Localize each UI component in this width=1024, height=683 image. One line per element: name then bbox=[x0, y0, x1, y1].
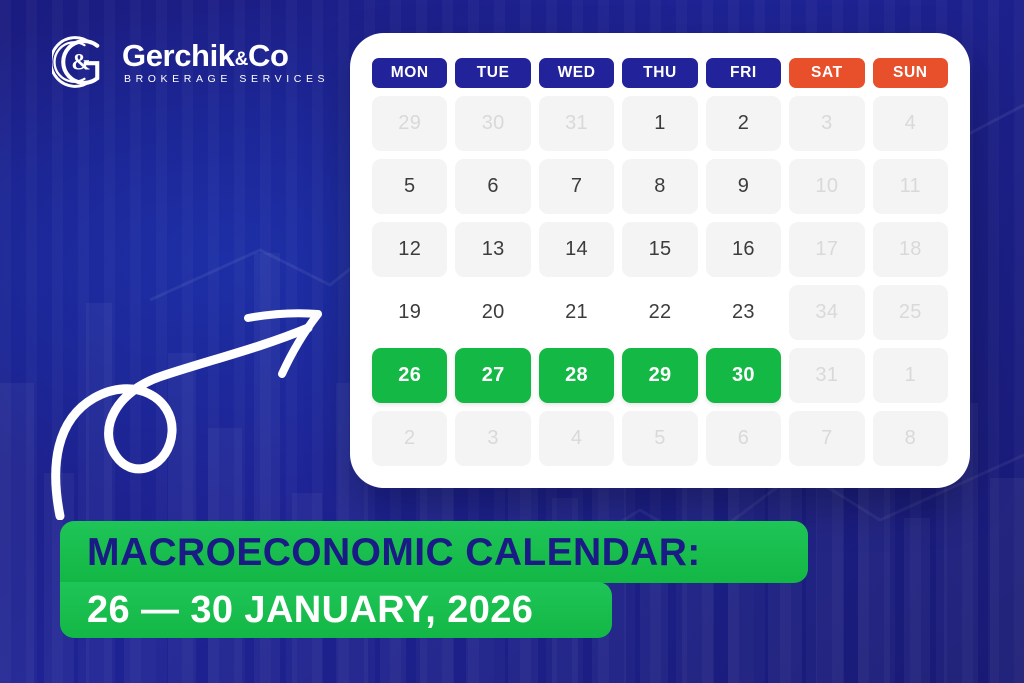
hand-drawn-looping-up-arrow-icon bbox=[42, 270, 362, 520]
calendar-day-cell[interactable]: 23 bbox=[706, 285, 781, 340]
calendar-day-cell[interactable]: 29 bbox=[372, 96, 447, 151]
svg-text:&: & bbox=[71, 50, 90, 76]
calendar-day-cell[interactable]: 2 bbox=[372, 411, 447, 466]
calendar-day-cell[interactable]: 20 bbox=[455, 285, 530, 340]
promo-banner: & Gerchik&Co BROKERAGE SERVICES MONTUEWE… bbox=[0, 0, 1024, 683]
calendar-weekday-thu: THU bbox=[622, 58, 697, 88]
calendar-day-cell[interactable]: 12 bbox=[372, 222, 447, 277]
calendar-day-cell[interactable]: 21 bbox=[539, 285, 614, 340]
calendar-day-cell-selected[interactable]: 30 bbox=[706, 348, 781, 403]
calendar-day-cell[interactable]: 19 bbox=[372, 285, 447, 340]
brand-logo: & Gerchik&Co BROKERAGE SERVICES bbox=[52, 33, 329, 91]
calendar-day-cell[interactable]: 16 bbox=[706, 222, 781, 277]
calendar-weekday-fri: FRI bbox=[706, 58, 781, 88]
calendar-day-cell[interactable]: 14 bbox=[539, 222, 614, 277]
calendar-day-cell[interactable]: 22 bbox=[622, 285, 697, 340]
calendar-day-cell[interactable]: 7 bbox=[789, 411, 864, 466]
calendar-day-cell[interactable]: 3 bbox=[455, 411, 530, 466]
calendar-day-cell[interactable]: 4 bbox=[539, 411, 614, 466]
headline-block: MACROECONOMIC CALENDAR: 26 — 30 JANUARY,… bbox=[60, 521, 808, 639]
calendar-day-cell[interactable]: 1 bbox=[622, 96, 697, 151]
calendar-weekday-tue: TUE bbox=[455, 58, 530, 88]
calendar-day-cell-selected[interactable]: 27 bbox=[455, 348, 530, 403]
headline-line-2-text: 26 — 30 JANUARY, 2026 bbox=[87, 591, 533, 629]
calendar-day-cell[interactable]: 31 bbox=[789, 348, 864, 403]
brand-name-ampersand: & bbox=[235, 49, 248, 70]
calendar-day-cell[interactable]: 18 bbox=[873, 222, 948, 277]
calendar-day-cell[interactable]: 15 bbox=[622, 222, 697, 277]
calendar-day-cell[interactable]: 10 bbox=[789, 159, 864, 214]
calendar-day-cell[interactable]: 5 bbox=[372, 159, 447, 214]
calendar-day-grid: 2930311234567891011121314151617181920212… bbox=[372, 96, 948, 466]
calendar-day-cell-selected[interactable]: 29 bbox=[622, 348, 697, 403]
calendar-card: MONTUEWEDTHUFRISATSUN 293031123456789101… bbox=[350, 33, 970, 488]
calendar-day-cell[interactable]: 5 bbox=[622, 411, 697, 466]
calendar-day-cell[interactable]: 1 bbox=[873, 348, 948, 403]
calendar-day-cell-selected[interactable]: 28 bbox=[539, 348, 614, 403]
gerchik-g-ampersand-emblem: & bbox=[52, 33, 110, 91]
calendar-weekday-sun: SUN bbox=[873, 58, 948, 88]
brand-name: Gerchik&Co bbox=[122, 40, 329, 71]
calendar-weekday-mon: MON bbox=[372, 58, 447, 88]
calendar-day-cell[interactable]: 25 bbox=[873, 285, 948, 340]
brand-tagline: BROKERAGE SERVICES bbox=[122, 74, 329, 85]
calendar-day-cell[interactable]: 9 bbox=[706, 159, 781, 214]
calendar-day-cell[interactable]: 3 bbox=[789, 96, 864, 151]
calendar-day-cell[interactable]: 2 bbox=[706, 96, 781, 151]
brand-name-suffix: Co bbox=[248, 38, 289, 73]
headline-line-1-text: MACROECONOMIC CALENDAR: bbox=[87, 533, 701, 572]
calendar-weekday-header: MONTUEWEDTHUFRISATSUN bbox=[372, 58, 948, 88]
calendar-day-cell[interactable]: 31 bbox=[539, 96, 614, 151]
calendar-weekday-sat: SAT bbox=[789, 58, 864, 88]
calendar-day-cell[interactable]: 6 bbox=[706, 411, 781, 466]
calendar-weekday-wed: WED bbox=[539, 58, 614, 88]
calendar-day-cell[interactable]: 17 bbox=[789, 222, 864, 277]
calendar-day-cell[interactable]: 30 bbox=[455, 96, 530, 151]
calendar-day-cell[interactable]: 11 bbox=[873, 159, 948, 214]
calendar-day-cell[interactable]: 8 bbox=[622, 159, 697, 214]
brand-name-main: Gerchik bbox=[122, 38, 235, 73]
calendar-day-cell[interactable]: 4 bbox=[873, 96, 948, 151]
calendar-day-cell[interactable]: 6 bbox=[455, 159, 530, 214]
calendar-day-cell[interactable]: 8 bbox=[873, 411, 948, 466]
calendar-day-cell-selected[interactable]: 26 bbox=[372, 348, 447, 403]
headline-line-2: 26 — 30 JANUARY, 2026 bbox=[60, 582, 612, 638]
calendar-day-cell[interactable]: 13 bbox=[455, 222, 530, 277]
calendar-day-cell[interactable]: 7 bbox=[539, 159, 614, 214]
headline-line-1: MACROECONOMIC CALENDAR: bbox=[60, 521, 808, 583]
calendar-day-cell[interactable]: 34 bbox=[789, 285, 864, 340]
